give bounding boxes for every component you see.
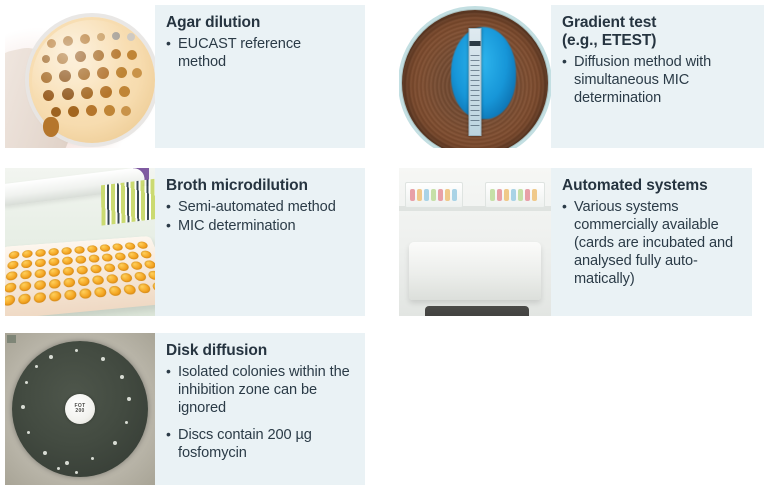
card-tray-left [405, 182, 463, 208]
agar-plate-shape [29, 17, 155, 143]
card-title: Disk diffusion [166, 342, 353, 360]
inhibition-zone-shape [451, 27, 516, 119]
pipette-tips [101, 178, 155, 225]
agar-plate-photo [5, 5, 155, 148]
card-title: Automated systems [562, 177, 740, 195]
card-text-broth-microdilution: Broth microdilution Semi-automated metho… [155, 168, 365, 316]
card-text-automated-systems: Automated systems Various systems commer… [551, 168, 752, 316]
bullet-item: Discs contain 200 µg fosfomycin [166, 427, 353, 463]
card-text-agar-dilution: Agar dilution EUCAST reference method [155, 5, 365, 148]
strip-band [470, 41, 481, 46]
card-tray-right [485, 182, 545, 208]
bullet-list: EUCAST reference method [166, 36, 353, 72]
bullet-list: Various systems commercially available (… [562, 199, 740, 289]
image-corner-mark [7, 335, 16, 343]
disk-diffusion-plate-photo: FOT 200 [5, 333, 155, 485]
card-text-disk-diffusion: Disk diffusion Isolated colonies within … [155, 333, 365, 485]
automated-instrument-photo [399, 168, 551, 316]
card-title: Agar dilution [166, 14, 353, 32]
gradient-strip-plate-photo [399, 5, 551, 148]
microtiter-plate-photo [5, 168, 155, 316]
bullet-list: Diffusion method with simultaneous MIC d… [562, 54, 752, 108]
bullet-item: EUCAST reference method [166, 36, 353, 72]
bullet-item: MIC determination [166, 218, 353, 236]
card-title: Gradient test (e.g., ETEST) [562, 14, 752, 50]
card-text-gradient-test: Gradient test (e.g., ETEST) Diffusion me… [551, 5, 764, 148]
antibiotic-disc: FOT 200 [65, 394, 95, 424]
disc-label-line2: 200 [75, 409, 84, 414]
card-disk-diffusion: FOT 200 Disk diffusion Isolated colonies… [5, 333, 365, 485]
96-well-plate-shape [5, 236, 155, 316]
bullet-list: Semi-automated method MIC determination [166, 199, 353, 236]
bullet-list: Isolated colonies within the inhibition … [166, 364, 353, 463]
bullet-item: Diffusion method with simultaneous MIC d… [562, 54, 752, 108]
card-title: Broth microdilution [166, 177, 353, 195]
card-automated-systems: Automated systems Various systems commer… [399, 168, 752, 316]
bullet-item: Various systems commercially available (… [562, 199, 740, 289]
card-gradient-test: Gradient test (e.g., ETEST) Diffusion me… [399, 5, 764, 148]
card-broth-microdilution: Broth microdilution Semi-automated metho… [5, 168, 365, 316]
instrument-body [409, 242, 541, 300]
etest-strip [469, 28, 482, 136]
bullet-item: Isolated colonies within the inhibition … [166, 364, 353, 418]
bullet-item: Semi-automated method [166, 199, 353, 217]
card-agar-dilution: Agar dilution EUCAST reference method [5, 5, 365, 148]
instrument-deck [425, 306, 529, 316]
